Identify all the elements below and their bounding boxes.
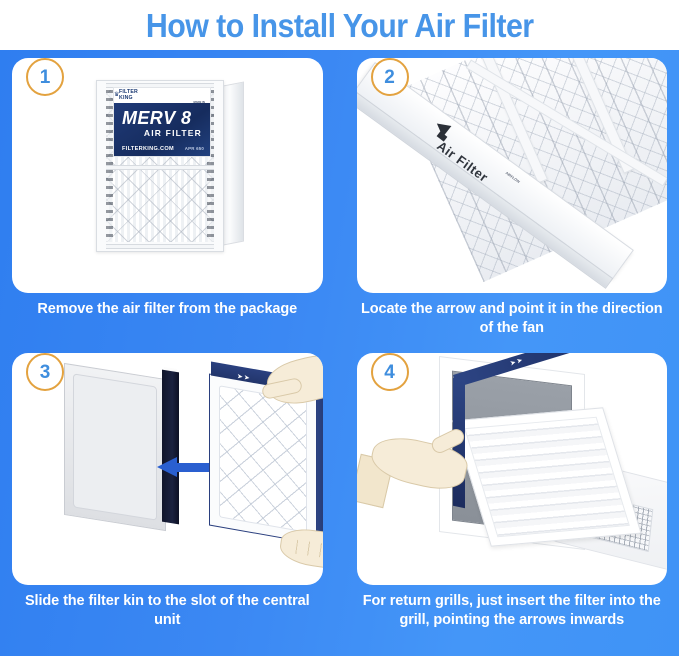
step-badge-2: 2 (371, 58, 409, 96)
filter-arrow-marking-icon: ➤➤ (509, 356, 524, 368)
brand-name: FILTER KING (119, 90, 138, 101)
steps-grid: ♛ FILTER KING MADE IN (0, 50, 679, 656)
step-caption-3: Slide the filter kin to the slot of the … (10, 592, 325, 629)
page-title: How to Install Your Air Filter (146, 9, 534, 42)
step-cell-4: ➤➤ 4 For return grills, just insert the … (345, 345, 679, 646)
step-card-3: ➤➤ 3 (12, 353, 323, 585)
filter-mid-bar (106, 165, 214, 170)
label-footer: FILTERKING.COM APR 650 (122, 146, 204, 152)
filter-mesh (219, 385, 307, 533)
step-cell-3: ➤➤ 3 Slide the filter kin to the slot of… (0, 345, 335, 646)
step-cell-2: Air Filter AIRFLOW 2 Locate the arrow an… (345, 50, 679, 345)
central-unit-body (64, 363, 166, 531)
step-card-2: Air Filter AIRFLOW 2 (357, 58, 668, 293)
arrow-head (157, 457, 177, 477)
step-cell-1: ♛ FILTER KING MADE IN (0, 50, 335, 345)
step-caption-2: Locate the arrow and point it in the dir… (355, 300, 670, 337)
arrow-shaft (175, 463, 211, 472)
filter-bottom-bar (106, 244, 214, 249)
filter-front-face: ♛ FILTER KING MADE IN (96, 80, 224, 252)
product-label: ♛ FILTER KING MADE IN (113, 87, 211, 157)
apr-value: APR 650 (185, 146, 204, 151)
step-caption-1: Remove the air filter from the package (10, 300, 325, 319)
label-body: MERV 8 AIR FILTER FILTERKING.COM APR 650 (114, 103, 210, 156)
label-header: ♛ FILTER KING MADE IN (114, 88, 210, 103)
infographic-page: How to Install Your Air Filter (0, 0, 679, 656)
central-unit-panel (73, 373, 157, 520)
merv-rating: MERV 8 (122, 109, 202, 127)
product-type: AIR FILTER (122, 128, 202, 138)
step-badge-3: 3 (26, 353, 64, 391)
brand-website: FILTERKING.COM (122, 146, 174, 152)
step-3-image: ➤➤ (12, 353, 323, 585)
step-2-image: Air Filter AIRFLOW (357, 58, 668, 293)
insert-direction-arrow-icon (157, 457, 211, 477)
step-1-image: ♛ FILTER KING MADE IN (12, 58, 323, 293)
central-unit-slot (162, 370, 179, 525)
step-card-1: ♛ FILTER KING MADE IN (12, 58, 323, 293)
step-4-image: ➤➤ (357, 353, 668, 585)
air-filter-product-photo: ♛ FILTER KING MADE IN (90, 78, 258, 253)
step-badge-4: 4 (371, 353, 409, 391)
title-bar: How to Install Your Air Filter (0, 0, 679, 50)
step-badge-1: 1 (26, 58, 64, 96)
grill-louver-slats (464, 417, 630, 538)
step-caption-4: For return grills, just insert the filte… (355, 592, 670, 629)
step-card-4: ➤➤ 4 (357, 353, 668, 585)
